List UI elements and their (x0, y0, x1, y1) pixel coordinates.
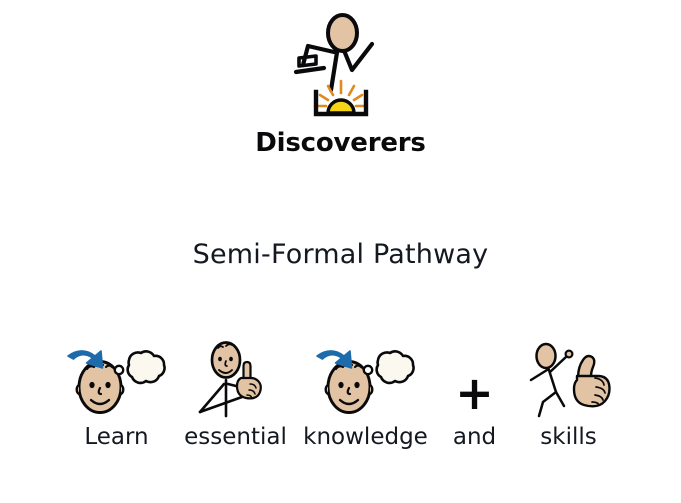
figure-head (536, 344, 555, 368)
face-ear-left (325, 385, 327, 394)
sun-disc (328, 100, 354, 113)
pathway-line: Semi-Formal Pathway (0, 240, 681, 270)
thought-connector-bubble (114, 366, 122, 374)
figure-head (328, 15, 357, 51)
essential-art (190, 340, 282, 420)
learn-art (65, 340, 169, 420)
skills-art (523, 340, 615, 420)
figure-eye-left (218, 357, 222, 362)
sentence-cell-knowledge: knowledge (296, 340, 436, 450)
arrow-into-head-icon (317, 351, 352, 368)
sentence-label-and: and (453, 424, 496, 450)
thumbs-up-hand-icon (574, 356, 610, 406)
figure-eye-right (229, 357, 233, 362)
arrow-into-head-icon (68, 351, 103, 368)
thought-cloud-icon (376, 351, 413, 383)
sentence-label-essential: essential (184, 424, 287, 450)
sentence-cell-and: + and (436, 340, 514, 450)
face-eye-right (354, 382, 359, 388)
discoverers-symbol (276, 8, 406, 126)
face-eye-left (338, 382, 343, 388)
thought-cloud-icon (127, 351, 164, 383)
face-eye-right (105, 382, 110, 388)
thought-connector-bubble (363, 366, 371, 374)
slide-canvas: Discoverers Semi-Formal Pathway (0, 0, 681, 503)
and-art: + (455, 340, 494, 420)
face-ear-right (121, 385, 123, 394)
sentence-cell-learn: Learn (58, 340, 176, 450)
face-ear-right (370, 385, 372, 394)
head-with-arrow-in-and-thought-cloud-icon (65, 340, 169, 420)
pathway-label: Semi-Formal Pathway (193, 239, 489, 270)
stick-figure-thumbs-up-icon (523, 340, 615, 420)
sentence-cell-skills: skills (514, 340, 624, 450)
pointing-hand-icon (237, 362, 261, 398)
knowledge-art (314, 340, 418, 420)
sentence-label-knowledge: knowledge (303, 424, 428, 450)
stick-figure-leaning-over-ledge (296, 44, 372, 90)
ledge-box (299, 56, 316, 66)
head-with-arrow-in-and-thought-cloud-icon (314, 340, 418, 420)
page-title: Discoverers (255, 130, 425, 156)
face-eye-left (89, 382, 94, 388)
sentence-strip: Learn (58, 340, 624, 450)
discovering-person-sunrise-symbol-svg (276, 8, 406, 126)
header-block: Discoverers (0, 8, 681, 156)
plus-sign-icon: + (455, 375, 494, 420)
figure-body-lines (200, 380, 242, 416)
stick-figure-pointing-up-icon (190, 340, 282, 420)
sentence-label-skills: skills (540, 424, 596, 450)
face-ear-left (76, 385, 78, 394)
sunrise-in-box-icon (316, 81, 366, 114)
sentence-label-learn: Learn (84, 424, 148, 450)
hand-ball (565, 351, 572, 358)
sentence-cell-essential: essential (176, 340, 296, 450)
